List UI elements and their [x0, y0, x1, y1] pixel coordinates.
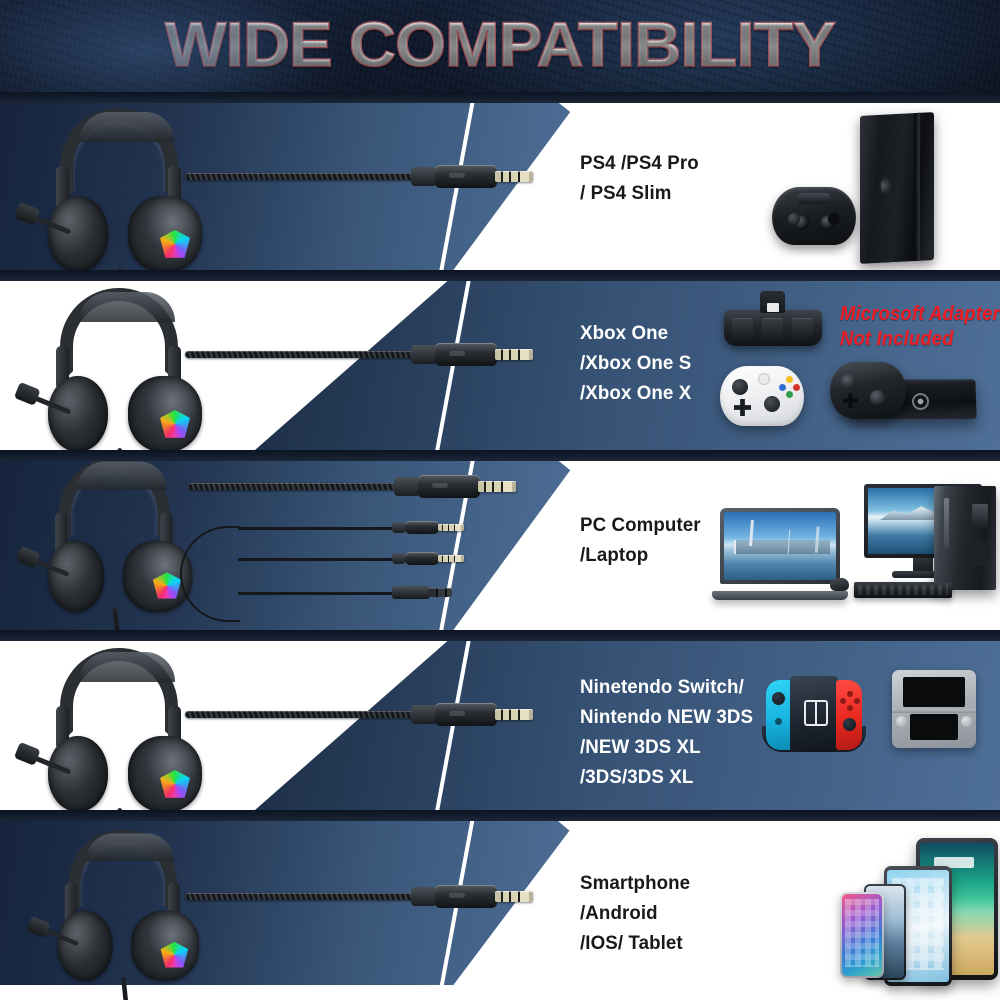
gaming-headset [42, 284, 212, 450]
splitter-cable-upper [238, 527, 396, 530]
row-label-line: PS4 /PS4 Pro [580, 148, 699, 178]
jack-housing [435, 343, 497, 366]
device-group-xbox: Microsoft Adapter Not Included [712, 284, 992, 434]
jack-pin [495, 349, 533, 360]
jack-housing [405, 552, 439, 565]
row-separator [0, 450, 1000, 461]
jack-pin [495, 891, 533, 902]
row-separator [0, 270, 1000, 281]
iphone-x-screen [842, 894, 882, 976]
jack-35mm-4pole [394, 475, 516, 498]
joycon-stick-left [772, 692, 785, 705]
mouse [830, 578, 849, 591]
xbox-one-controller-black [830, 362, 906, 418]
laptop-lid [720, 508, 840, 584]
row-label-smartphone: Smartphone /Android /IOS/ Tablet [580, 868, 695, 958]
row-label-ps4: PS4 /PS4 Pro / PS4 Slim [580, 148, 704, 208]
headset-cable-ps4 [185, 172, 415, 181]
headset-earcup-left [48, 196, 108, 270]
jack-pin [495, 709, 533, 720]
adapter-warning-note: Microsoft Adapter Not Included [840, 302, 1000, 352]
device-group-ps4 [760, 102, 980, 262]
headset-artwork-xbox [0, 270, 560, 450]
desktop-tower [934, 486, 996, 590]
laptop-screen [724, 512, 836, 580]
joycon-button-x [847, 691, 853, 697]
headset-artwork-smartphone [0, 810, 560, 1000]
nintendo-switch [766, 676, 862, 752]
cable-braid [185, 351, 415, 358]
warning-line: Not Included [840, 327, 1000, 352]
gaming-headset [52, 826, 208, 987]
controller-stick-left [841, 374, 856, 389]
monitor-stand [913, 558, 933, 572]
jack-strain-relief [411, 887, 437, 906]
row-label-line: Smartphone [580, 868, 690, 898]
3ds-bottom-screen [910, 714, 958, 740]
controller-stick-right [820, 215, 835, 230]
jack-strain-relief [394, 477, 420, 496]
headset-headband [60, 108, 178, 204]
xbox-stereo-headset-adapter [724, 310, 822, 346]
row-label-line: / PS4 Slim [580, 178, 699, 208]
3ds-hinge [892, 709, 976, 713]
row-label-line: PC Computer [580, 510, 701, 540]
jack-strain-relief [392, 522, 406, 533]
compat-row-ps4: PS4 /PS4 Pro / PS4 Slim [0, 92, 1000, 270]
row-label-pc: PC Computer /Laptop [580, 510, 706, 570]
splitter-cable-lower [238, 592, 396, 595]
headset-cable-xbox [185, 350, 415, 359]
nintendo-new-3ds-xl [892, 670, 976, 748]
row-separator [0, 810, 1000, 821]
page-title: WIDE COMPATIBILITY [0, 6, 1000, 84]
joycon-right-red [836, 680, 862, 750]
socket-housing [392, 586, 430, 599]
jack-housing [418, 475, 480, 498]
headset-earcup-right-rgb [128, 376, 202, 450]
jack-35mm-4pole [411, 165, 533, 188]
jack-housing [405, 521, 439, 534]
jack-pin [478, 481, 516, 492]
splitter-plug-headphone [392, 521, 466, 534]
row-label-line: /3DS/3DS XL [580, 762, 753, 792]
controller-stick-right [764, 396, 780, 412]
headset-earcup-left [48, 540, 104, 611]
controller-stick-left [794, 215, 809, 230]
headset-earcup-left [58, 911, 113, 981]
adapter-button [792, 318, 813, 338]
dualshock-4-controller [772, 187, 856, 245]
row-label-line: Nintendo NEW 3DS [580, 702, 753, 732]
row-label-xbox: Xbox One /Xbox One S /Xbox One X [580, 318, 696, 408]
joycon-button-y [840, 698, 846, 704]
headset-artwork-pc [0, 450, 560, 630]
splitter-plug-microphone [392, 552, 466, 565]
gaming-headset [42, 454, 202, 619]
cable-braid [185, 173, 415, 180]
row-label-line: Xbox One [580, 318, 691, 348]
xbox-guide-button [758, 373, 770, 385]
keyboard [854, 582, 952, 598]
iphone-x [840, 892, 884, 978]
3ds-circle-pad [896, 716, 907, 727]
compat-row-smartphone: Smartphone /Android /IOS/ Tablet [0, 810, 1000, 1000]
row-label-nintendo: Ninetendo Switch/ Nintendo NEW 3DS /NEW … [580, 672, 760, 792]
adapter-plug [760, 291, 785, 313]
compat-row-xbox: Xbox One /Xbox One S /Xbox One X Microso… [0, 270, 1000, 450]
joycon-stick-right [843, 718, 856, 731]
controller-dpad [734, 399, 751, 416]
headset-earcup-left [48, 376, 108, 450]
headset-earcup-right-rgb [128, 736, 202, 810]
adapter-button [762, 318, 783, 338]
headset-headband [59, 458, 170, 548]
joycon-button-a [854, 698, 860, 704]
row-separator [0, 92, 1000, 103]
switch-console-screen [790, 676, 838, 752]
headset-cable-nintendo [185, 710, 415, 719]
controller-dpad [843, 393, 858, 408]
controller-stick-left [732, 379, 748, 395]
controller-face-buttons [778, 376, 800, 398]
jack-strain-relief [411, 705, 437, 724]
row-label-line: Ninetendo Switch/ [580, 672, 753, 702]
splitter-cable-middle [238, 558, 396, 561]
socket-opening [428, 588, 452, 597]
3ds-face-buttons [961, 716, 972, 727]
jack-housing [435, 885, 497, 908]
headset-artwork-ps4 [0, 92, 560, 270]
row-label-line: /Android [580, 898, 690, 928]
headset-headband [60, 648, 178, 744]
headset-wire [121, 977, 131, 1000]
headset-cable-pc [188, 482, 398, 491]
jack-35mm-4pole [411, 703, 533, 726]
ps4-pro-console [860, 112, 934, 264]
row-label-line: /Xbox One X [580, 378, 691, 408]
jack-pin [438, 555, 464, 562]
jack-housing [435, 165, 497, 188]
jack-strain-relief [411, 345, 437, 364]
device-group-nintendo [760, 662, 990, 782]
headset-cable-smartphone [185, 892, 415, 901]
cable-braid [185, 893, 415, 900]
cable-braid [188, 483, 398, 490]
jack-35mm-4pole [411, 885, 533, 908]
row-separator [0, 630, 1000, 641]
compat-row-pc: PC Computer /Laptop [0, 450, 1000, 630]
xbox-one-s-controller-white [720, 366, 804, 426]
device-group-pc [712, 464, 997, 616]
warning-line: Microsoft Adapter [840, 302, 1000, 327]
jack-pin [438, 524, 464, 531]
3ds-top-screen [903, 677, 965, 707]
headset-headband [60, 288, 178, 384]
row-label-line: /NEW 3DS XL [580, 732, 753, 762]
laptop [712, 508, 848, 600]
jack-35mm-4pole [411, 343, 533, 366]
headset-headband [69, 830, 178, 918]
jack-housing [435, 703, 497, 726]
row-label-line: /Xbox One S [580, 348, 691, 378]
cable-braid [185, 711, 415, 718]
joycon-button-b [847, 705, 853, 711]
page-header: WIDE COMPATIBILITY [0, 0, 1000, 92]
row-label-line: /IOS/ Tablet [580, 928, 690, 958]
splitter-female-socket [392, 586, 452, 599]
headset-artwork-nintendo [0, 630, 560, 810]
jack-strain-relief [392, 553, 406, 564]
joycon-dpad-button [775, 718, 782, 725]
device-group-smartphone [840, 824, 1000, 984]
laptop-base [712, 591, 848, 600]
gaming-headset [42, 644, 212, 810]
headset-wire [112, 608, 122, 630]
compat-row-nintendo: Ninetendo Switch/ Nintendo NEW 3DS /NEW … [0, 630, 1000, 810]
controller-stick-right [870, 390, 885, 405]
headset-earcup-left [48, 736, 108, 810]
adapter-button [732, 318, 753, 338]
jack-strain-relief [411, 167, 437, 186]
headset-earcup-right-rgb [131, 911, 199, 981]
gaming-headset [42, 104, 212, 270]
jack-pin [495, 171, 533, 182]
row-label-line: /Laptop [580, 540, 701, 570]
headset-earcup-right-rgb [128, 196, 202, 270]
joycon-left-blue [766, 680, 792, 750]
